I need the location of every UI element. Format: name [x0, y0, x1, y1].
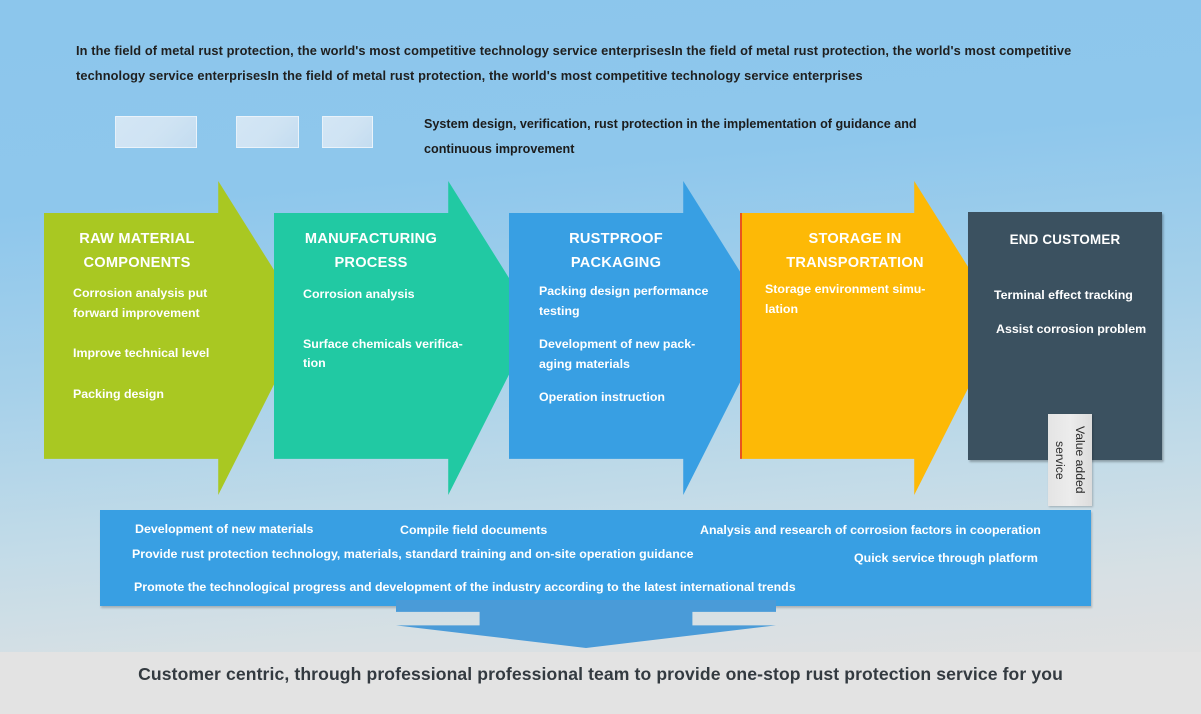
service-item: Promote the technological progress and d… [134, 580, 796, 594]
end-customer-bullets: Terminal effect tracking Assist corrosio… [994, 286, 1156, 353]
stage-bullet: Improve technical level [73, 344, 253, 364]
chevron-content: STORAGE IN TRANSPORTATION Storage enviro… [740, 181, 1002, 495]
service-item: Development of new materials [135, 522, 313, 536]
stage-bullet: Surface chemicals verifica-tion [303, 335, 483, 374]
value-added-service-label: Value added service [1048, 414, 1092, 506]
stage-title: STORAGE IN TRANSPORTATION [762, 227, 948, 275]
stage-chevron-storage-transportation[interactable]: STORAGE IN TRANSPORTATION Storage enviro… [740, 181, 1002, 495]
chevron-content: RAW MATERIAL COMPONENTS Corrosion analys… [44, 181, 306, 495]
stage-title: MANUFACTURING PROCESS [278, 227, 464, 275]
system-design-note: System design, verification, rust protec… [424, 112, 944, 162]
end-customer-bullet: Terminal effect tracking [994, 286, 1156, 306]
stage-bullets: Corrosion analysis Surface chemicals ver… [303, 285, 483, 404]
stage-bullet: Packing design performance testing [539, 282, 717, 321]
ghost-box-3 [322, 116, 373, 148]
chevron-content: MANUFACTURING PROCESS Corrosion analysis… [274, 181, 536, 495]
service-item: Compile field documents [400, 523, 547, 537]
stage-title: RUSTPROOF PACKAGING [523, 227, 709, 275]
service-item: Provide rust protection technology, mate… [132, 547, 694, 561]
stage-bullet: Corrosion analysis [303, 285, 483, 305]
stage-bullet: Corrosion analysis put forward improveme… [73, 284, 253, 323]
stage-chevron-manufacturing-process[interactable]: MANUFACTURING PROCESS Corrosion analysis… [274, 181, 536, 495]
stage-bullet: Storage environment simu-lation [765, 280, 950, 319]
service-item: Analysis and research of corrosion facto… [700, 523, 1041, 537]
services-panel: Development of new materials Compile fie… [100, 510, 1091, 606]
intro-paragraph: In the field of metal rust protection, t… [76, 38, 1076, 88]
service-item: Quick service through platform [854, 551, 1038, 565]
ghost-box-2 [236, 116, 299, 148]
end-customer-bullet: Assist corrosion problem [996, 320, 1156, 340]
ghost-box-1 [115, 116, 197, 148]
value-added-service-tag: Value added service [1048, 414, 1092, 506]
stage-bullets: Corrosion analysis put forward improveme… [73, 284, 253, 425]
stage-bullet: Development of new pack-aging materials [539, 335, 717, 374]
summary-caption: Customer centric, through professional p… [0, 664, 1201, 685]
chevron-content: RUSTPROOF PACKAGING Packing design perfo… [509, 181, 771, 495]
stage-chevron-raw-material[interactable]: RAW MATERIAL COMPONENTS Corrosion analys… [44, 181, 306, 495]
stage-bullet: Packing design [73, 385, 253, 405]
stage-bullets: Packing design performance testing Devel… [539, 282, 717, 422]
stage-bullet: Operation instruction [539, 388, 717, 408]
diagram-canvas: In the field of metal rust protection, t… [0, 0, 1201, 714]
end-customer-title: END CUSTOMER [968, 232, 1162, 247]
stage-chevron-rustproof-packaging[interactable]: RUSTPROOF PACKAGING Packing design perfo… [509, 181, 771, 495]
stage-bullets: Storage environment simu-lation [765, 280, 950, 340]
stage-title: RAW MATERIAL COMPONENTS [44, 227, 230, 275]
